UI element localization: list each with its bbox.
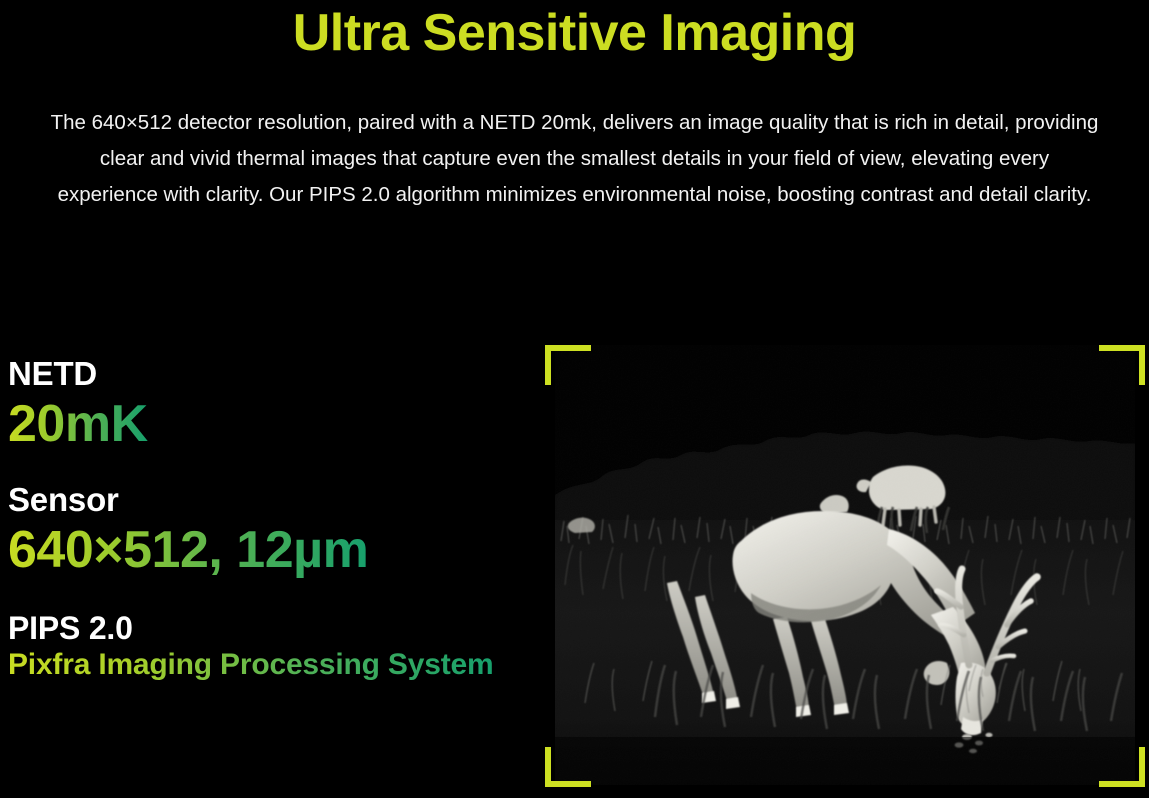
corner-bracket-bottom-left-icon (545, 747, 591, 787)
spec-label-netd: NETD (8, 355, 528, 394)
spec-item-sensor: Sensor 640×512, 12µm (8, 481, 528, 581)
corner-bracket-top-left-icon (545, 345, 591, 385)
thermal-image (555, 345, 1135, 785)
product-feature-panel: Ultra Sensitive Imaging The 640×512 dete… (0, 0, 1149, 798)
spec-value-sensor: 640×512, 12µm (8, 520, 368, 581)
spec-label-pips: PIPS 2.0 (8, 610, 528, 648)
spec-value-netd: 20mK (8, 394, 148, 455)
spec-list: NETD 20mK Sensor 640×512, 12µm PIPS 2.0 … (8, 355, 528, 701)
corner-bracket-bottom-right-icon (1099, 747, 1145, 787)
page-title: Ultra Sensitive Imaging (0, 4, 1149, 64)
thermal-image-viewer (545, 340, 1145, 790)
spec-item-netd: NETD 20mK (8, 355, 528, 455)
corner-bracket-top-right-icon (1099, 345, 1145, 385)
spec-item-pips: PIPS 2.0 Pixfra Imaging Processing Syste… (8, 610, 528, 684)
spec-sub-pips: Pixfra Imaging Processing System (8, 647, 493, 683)
spec-label-sensor: Sensor (8, 481, 528, 520)
intro-paragraph: The 640×512 detector resolution, paired … (50, 105, 1099, 213)
